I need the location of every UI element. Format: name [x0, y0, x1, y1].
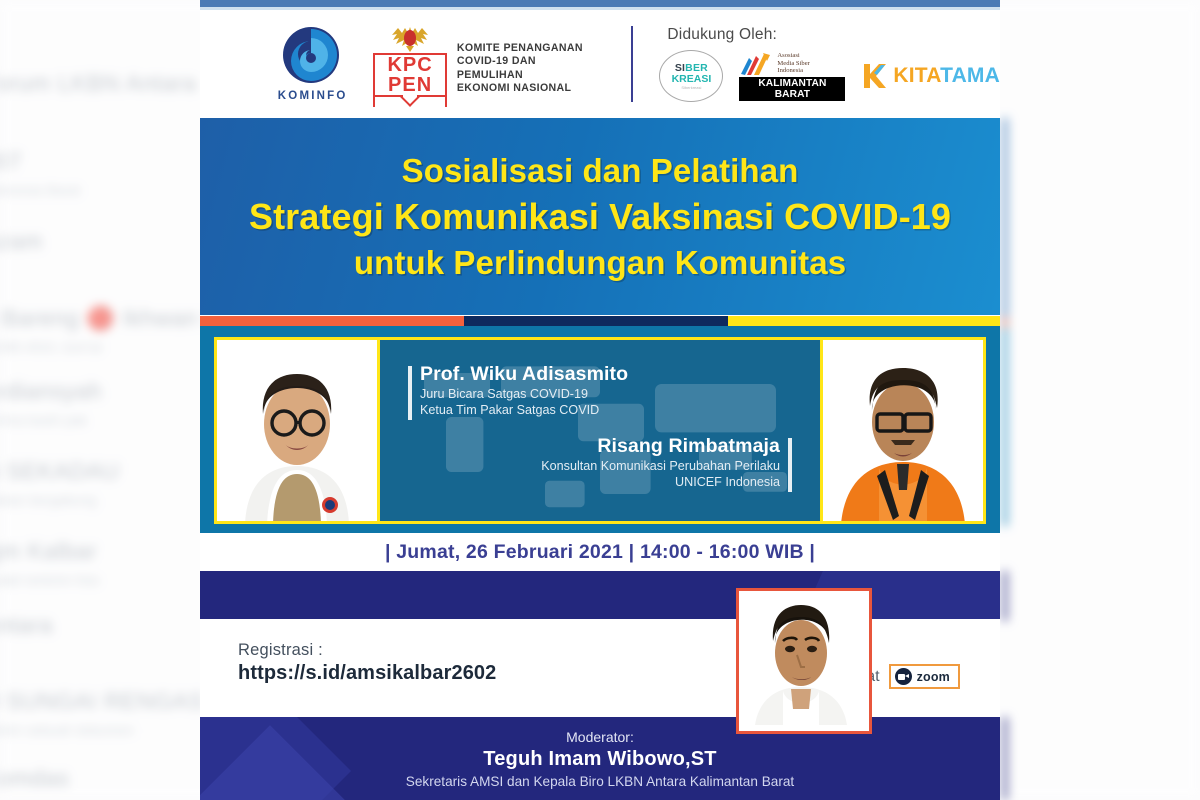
- video-camera-icon: [895, 668, 912, 685]
- navy-band-upper: [200, 571, 1000, 619]
- registration-block: Registrasi : https://s.id/amsikalbar2602: [238, 641, 496, 685]
- amsi-wordmark: Asosiasi Media Siber Indonesia: [777, 52, 809, 75]
- moderator-name: Teguh Imam Wibowo,ST: [200, 746, 1000, 772]
- speaker-1-name: Prof. Wiku Adisasmito: [420, 362, 628, 386]
- stripe-segment-yellow: [728, 316, 1000, 326]
- speaker-1-role-1: Juru Bicara Satgas COVID-19: [420, 386, 628, 402]
- siber-part2: BER: [685, 62, 708, 74]
- poster-title-band: Sosialisasi dan Pelatihan Strategi Komun…: [200, 118, 1000, 315]
- siber-part1: SI: [675, 62, 685, 74]
- schedule-text: | Jumat, 26 Februari 2021 | 14:00 - 16:0…: [385, 541, 815, 564]
- speakers-band: Prof. Wiku Adisasmito Juru Bicara Satgas…: [200, 326, 1000, 533]
- sponsor-logos: SIBER KREASI Siberkreasi: [659, 50, 1000, 102]
- organizer-logos: KOMINFO KPC P: [200, 22, 601, 107]
- poster-top-edge: [200, 0, 1000, 7]
- supporters-block: Didukung Oleh: SIBER KREASI Siberkreasi: [659, 26, 1000, 102]
- kominfo-logo: KOMINFO: [270, 26, 355, 102]
- speaker-1-accent-bar: [408, 366, 412, 420]
- kitatama-part2: TAMA: [940, 64, 1000, 87]
- screenshot-root: Forum LKBN Antara 007Indonesia Barat Aza…: [0, 0, 1200, 800]
- kominfo-wave-icon: [278, 26, 348, 88]
- zoom-badge: zoom: [889, 664, 960, 689]
- title-line-3: untuk Perlindungan Komunitas: [249, 240, 951, 286]
- siber-part3: KREASI: [672, 74, 712, 85]
- moderator-photo: [736, 588, 872, 734]
- kitatama-part1: KITA: [893, 64, 940, 87]
- speaker-text-panel: Prof. Wiku Adisasmito Juru Bicara Satgas…: [377, 340, 823, 521]
- registration-label: Registrasi :: [238, 641, 496, 660]
- title-line-1: Sosialisasi dan Pelatihan: [249, 148, 951, 193]
- stripe-segment-navy: [464, 316, 728, 326]
- amsi-logo: Asosiasi Media Siber Indonesia KALIMANTA…: [739, 52, 845, 101]
- moderator-role: Sekretaris AMSI dan Kepala Biro LKBN Ant…: [200, 772, 1000, 791]
- poster-header: KOMINFO KPC P: [200, 10, 1000, 118]
- amsi-region-bar: KALIMANTAN BARAT: [739, 77, 845, 101]
- siber-part4: Siberkreasi: [681, 86, 701, 90]
- kitatama-k-icon: [861, 62, 887, 90]
- registration-band: Registrasi : https://s.id/amsikalbar2602…: [200, 619, 1000, 717]
- moderator-label: Moderator:: [200, 728, 1000, 746]
- siber-kreasi-logo: SIBER KREASI Siberkreasi: [659, 50, 723, 102]
- speaker-1-role-2: Ketua Tim Pakar Satgas COVID: [420, 402, 628, 418]
- amsi-arrows-icon: [739, 52, 773, 76]
- kitatama-logo: KITATAMA: [861, 62, 1000, 90]
- title-line-2: Strategi Komunikasi Vaksinasi COVID-19: [249, 193, 951, 240]
- speaker-2-info: Risang Rimbatmaja Konsultan Komunikasi P…: [541, 434, 800, 490]
- schedule-band: | Jumat, 26 Februari 2021 | 14:00 - 16:0…: [200, 533, 1000, 571]
- kpcpen-full-name: KOMITE PENANGANAN COVID-19 DAN PEMULIHAN…: [457, 22, 601, 96]
- kpcpen-logo: KPC PEN KOMITE PENANGANAN COVID-19 DAN P…: [373, 22, 600, 107]
- kpcpen-line1: KPC: [375, 55, 445, 75]
- speaker-2-accent-bar: [788, 438, 792, 492]
- speaker-2-role-2: UNICEF Indonesia: [541, 474, 780, 490]
- registration-url[interactable]: https://s.id/amsikalbar2602: [238, 662, 496, 685]
- garuda-emblem-icon: [388, 22, 432, 52]
- stripe-segment-orange: [200, 316, 464, 326]
- kominfo-label: KOMINFO: [270, 90, 355, 102]
- supported-by-label: Didukung Oleh:: [667, 26, 1000, 44]
- speaker-photo-right: [823, 340, 983, 521]
- speaker-photo-left: [217, 340, 377, 521]
- tricolor-divider: [200, 316, 1000, 326]
- speaker-2-role-1: Konsultan Komunikasi Perubahan Perilaku: [541, 458, 780, 474]
- navy-band-lower: Moderator: Teguh Imam Wibowo,ST Sekretar…: [200, 717, 1000, 800]
- header-divider: [631, 26, 634, 102]
- speaker-2-name: Risang Rimbatmaja: [541, 434, 780, 458]
- zoom-label: zoom: [917, 670, 950, 684]
- speaker-1-info: Prof. Wiku Adisasmito Juru Bicara Satgas…: [400, 362, 628, 418]
- moderator-block: Moderator: Teguh Imam Wibowo,ST Sekretar…: [200, 728, 1000, 791]
- webinar-poster: KOMINFO KPC P: [200, 0, 1000, 800]
